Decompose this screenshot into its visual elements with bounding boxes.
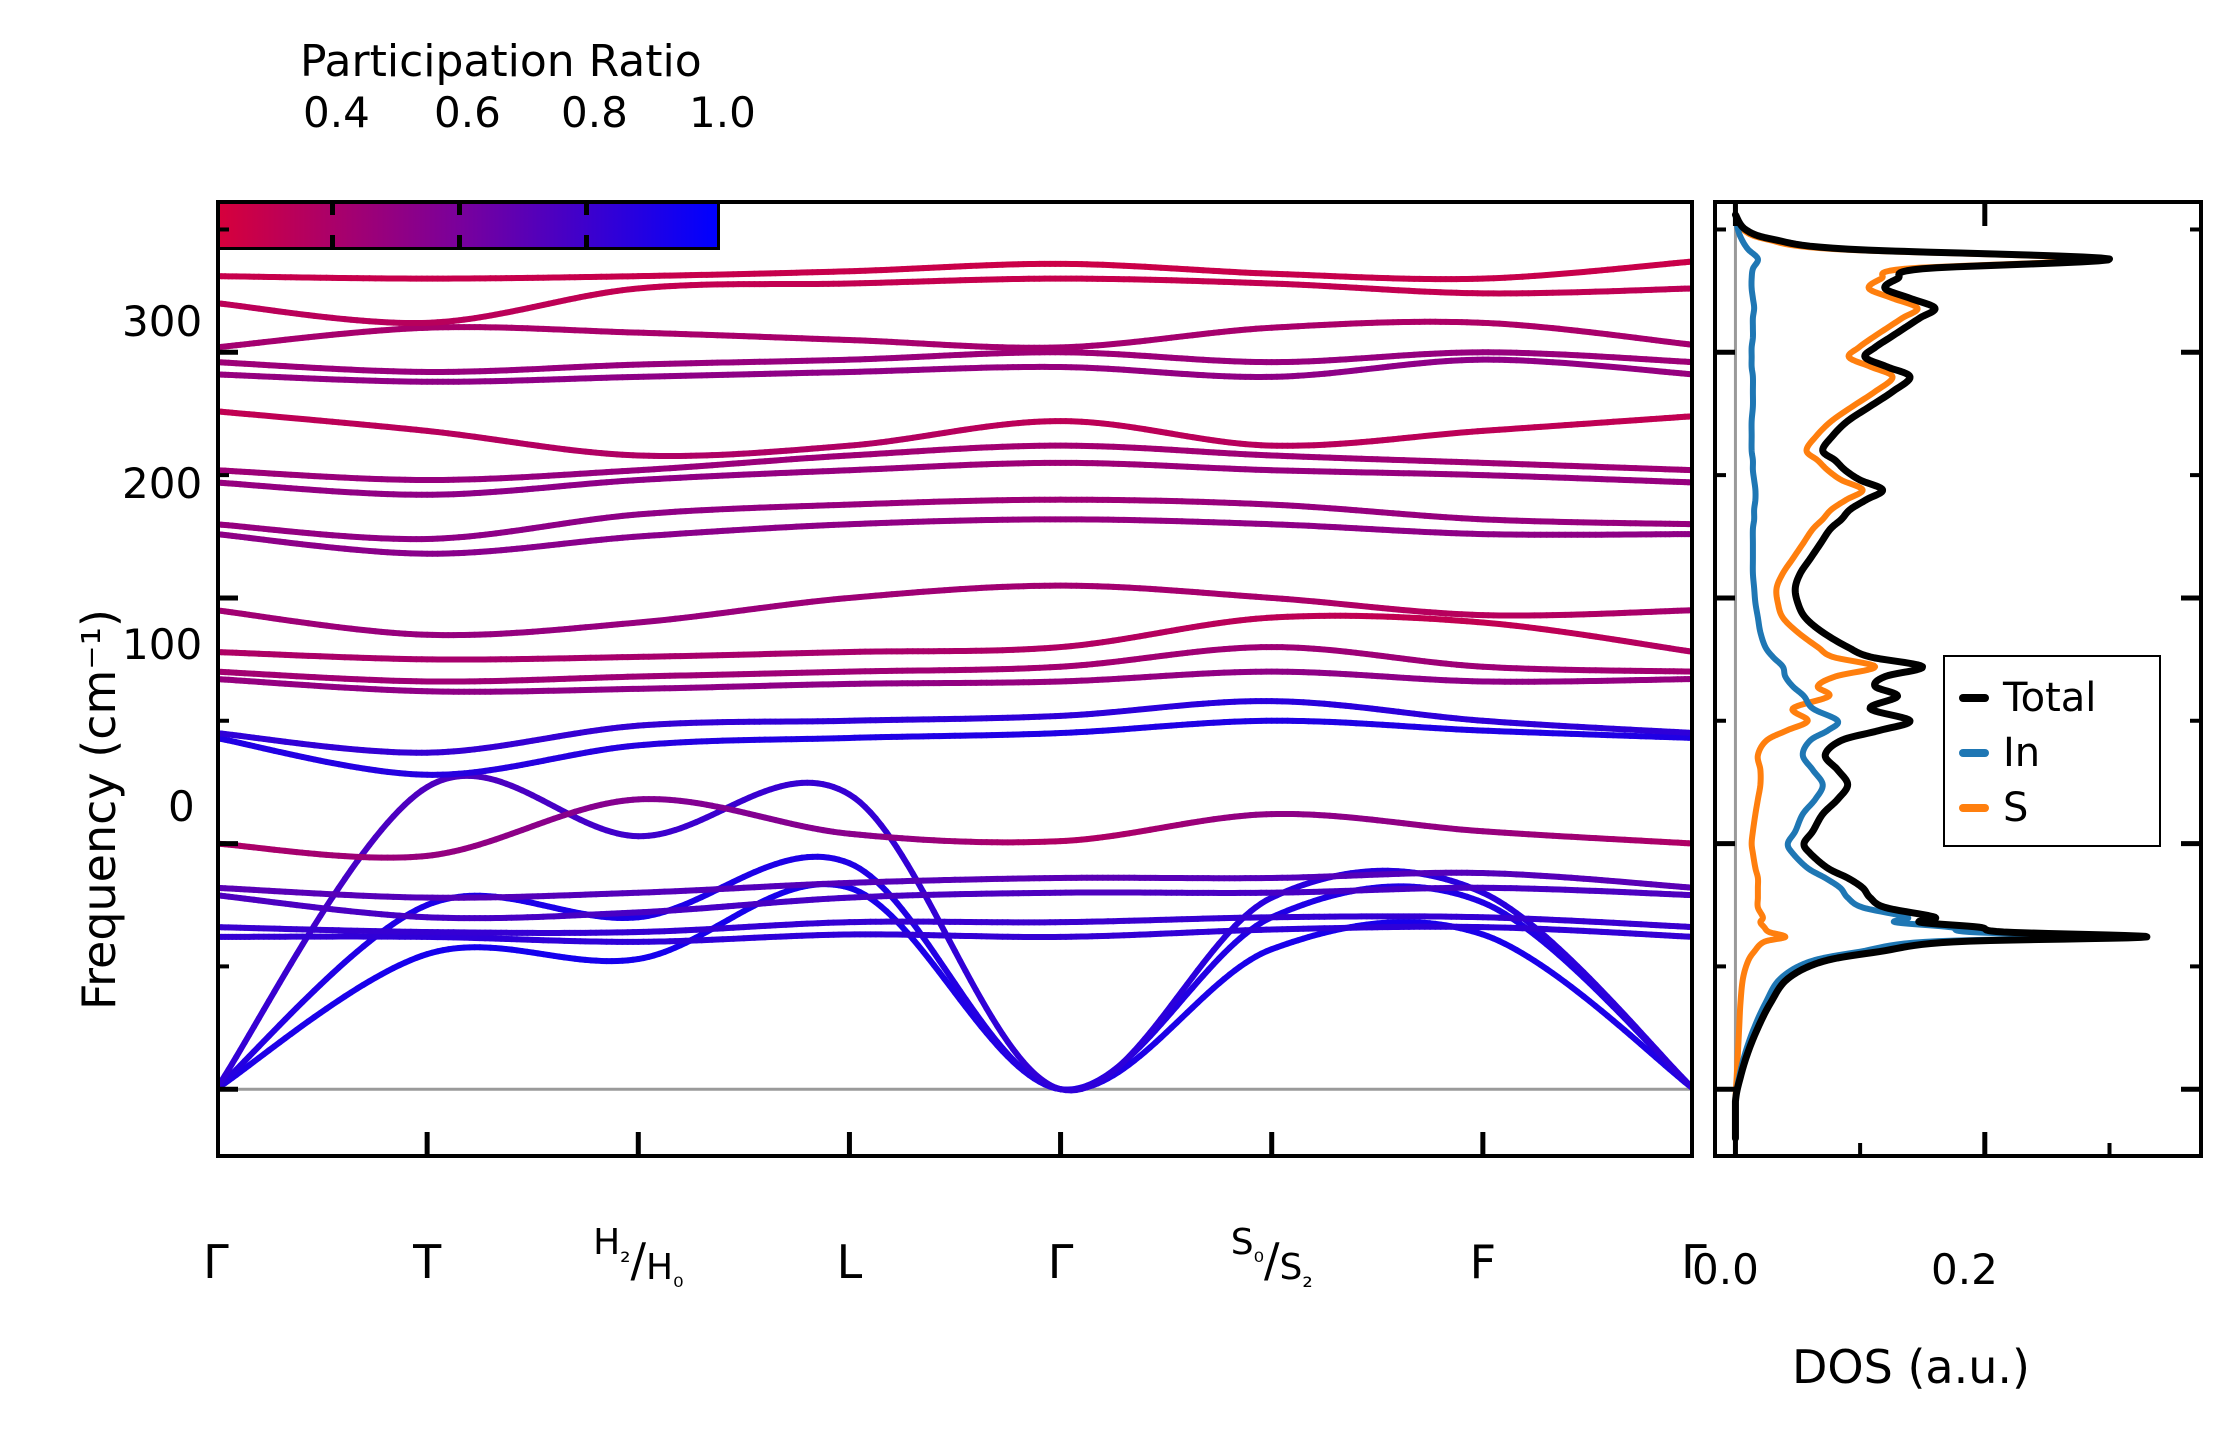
legend-swatch-total (1959, 694, 1989, 702)
bands-xtick-label-6: F (1470, 1235, 1496, 1289)
legend-entry-in[interactable]: In (1945, 726, 2159, 781)
band-curve-23 (216, 279, 1694, 323)
legend-label-total: Total (2003, 678, 2096, 718)
bands-y-axis-label-text: Frequency (cm⁻¹) (72, 609, 126, 1010)
figure-root: Participation Ratio 0.4 0.6 0.8 1.0 Freq… (0, 0, 2222, 1455)
bands-ytick-0: 0 (168, 782, 195, 831)
bands-ytick-300: 300 (122, 297, 202, 346)
band-curve-10 (216, 701, 1694, 753)
band-curve-9 (216, 721, 1694, 775)
band-curve-22 (216, 322, 1694, 348)
dos-legend[interactable]: TotalInS (1943, 655, 2161, 847)
band-curve-14 (216, 586, 1694, 635)
legend-entry-s[interactable]: S (1945, 780, 2159, 835)
bands-xtick-label-0: Γ (203, 1235, 229, 1289)
dos-xtick-1: 0.2 (1931, 1245, 1998, 1294)
legend-label-s: S (2003, 788, 2028, 828)
dos-xtick-0: 0.0 (1692, 1245, 1759, 1294)
bands-xtick-label-5: S₀/S₂ (1231, 1235, 1313, 1281)
bands-ytick-200: 200 (122, 459, 202, 508)
legend-swatch-in (1959, 749, 1989, 757)
bands-x-tick-labels: ΓTH₂/H₀LΓS₀/S₂FΓ (0, 0, 2222, 120)
bands-ytick-100: 100 (122, 620, 202, 669)
dos-x-axis-label: DOS (a.u.) (1792, 1340, 2030, 1394)
bands-xtick-label-1: T (413, 1235, 441, 1289)
bands-xtick-label-4: Γ (1048, 1235, 1074, 1289)
legend-label-in: In (2003, 733, 2040, 773)
legend-entry-total[interactable]: Total (1945, 671, 2159, 726)
bands-xtick-label-2: H₂/H₀ (593, 1235, 683, 1281)
band-curve-24 (216, 261, 1694, 279)
legend-swatch-s (1959, 804, 1989, 812)
phonon-band-structure-plot[interactable] (216, 200, 1694, 1158)
bands-xtick-label-3: L (837, 1235, 863, 1289)
band-curve-8 (216, 799, 1694, 858)
